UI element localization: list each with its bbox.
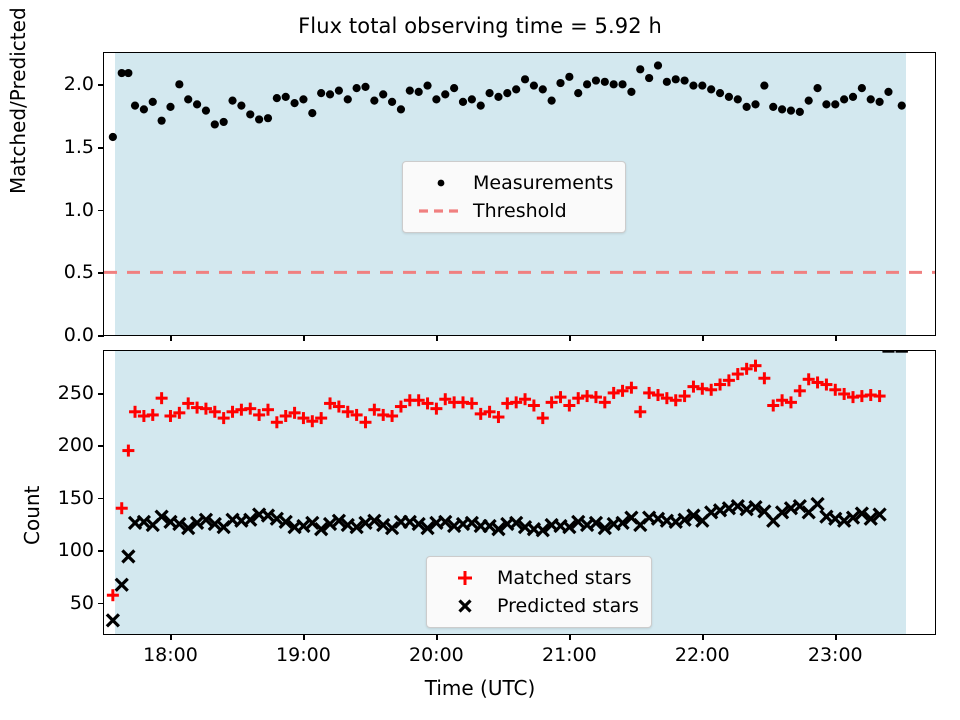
- y-tick-label: 1.0: [64, 199, 94, 221]
- series-measurements: [109, 61, 906, 141]
- legend-label-predicted-stars: Predicted stars: [493, 595, 639, 617]
- legend-item-measurements: Measurements: [413, 169, 613, 197]
- y-tick-label: 100: [58, 539, 94, 561]
- x-tick: [702, 634, 704, 640]
- x-axis-label: Time (UTC): [0, 676, 960, 700]
- x-tick-label: 19:00: [276, 644, 331, 666]
- x-tick: [170, 335, 172, 341]
- dashed-line-marker-icon: [413, 201, 469, 221]
- y-tick: [98, 393, 104, 395]
- legend-label-threshold: Threshold: [469, 200, 567, 222]
- y-tick-label: 150: [58, 487, 94, 509]
- x-marker-icon: [437, 595, 493, 617]
- legend-item-matched-stars: Matched stars: [437, 564, 639, 592]
- x-tick-label: 20:00: [409, 644, 464, 666]
- x-tick: [303, 335, 305, 341]
- legend-label-matched-stars: Matched stars: [493, 567, 631, 589]
- x-tick: [436, 335, 438, 341]
- x-tick-label: 21:00: [542, 644, 597, 666]
- legend-label-measurements: Measurements: [469, 172, 613, 194]
- y-tick-label: 1.5: [64, 136, 94, 158]
- plus-marker-icon: [437, 567, 493, 589]
- y-tick: [98, 445, 104, 447]
- y-tick-label: 250: [58, 382, 94, 404]
- top-panel-legend: Measurements Threshold: [402, 161, 626, 233]
- legend-item-predicted-stars: Predicted stars: [437, 592, 639, 620]
- x-tick: [835, 634, 837, 640]
- legend-item-threshold: Threshold: [413, 197, 613, 225]
- y-tick: [98, 147, 104, 149]
- y-tick: [98, 550, 104, 552]
- bottom-y-axis-label: Count: [20, 486, 44, 545]
- y-tick-label: 0.0: [64, 324, 94, 346]
- x-tick-label: 23:00: [808, 644, 863, 666]
- x-tick: [436, 634, 438, 640]
- y-tick-label: 50: [70, 592, 94, 614]
- y-tick: [98, 335, 104, 337]
- x-tick: [702, 335, 704, 341]
- bottom-panel-legend: Matched stars Predicted stars: [426, 556, 652, 628]
- x-tick: [303, 634, 305, 640]
- y-tick: [98, 210, 104, 212]
- x-tick: [569, 335, 571, 341]
- y-tick-label: 0.5: [64, 261, 94, 283]
- y-tick: [98, 272, 104, 274]
- top-y-axis-label: Matched/Predicted stars: [6, 0, 30, 194]
- y-tick: [98, 84, 104, 86]
- x-tick: [835, 335, 837, 341]
- chart-title: Flux total observing time = 5.92 h: [0, 14, 960, 38]
- y-tick: [98, 603, 104, 605]
- figure-canvas: Flux total observing time = 5.92 h 0.00.…: [0, 0, 960, 720]
- x-tick: [170, 634, 172, 640]
- point-marker-icon: [413, 173, 469, 193]
- x-tick-label: 18:00: [143, 644, 198, 666]
- y-tick-label: 200: [58, 434, 94, 456]
- y-tick-label: 2.0: [64, 73, 94, 95]
- x-tick-label: 22:00: [675, 644, 730, 666]
- y-tick: [98, 498, 104, 500]
- x-tick: [569, 634, 571, 640]
